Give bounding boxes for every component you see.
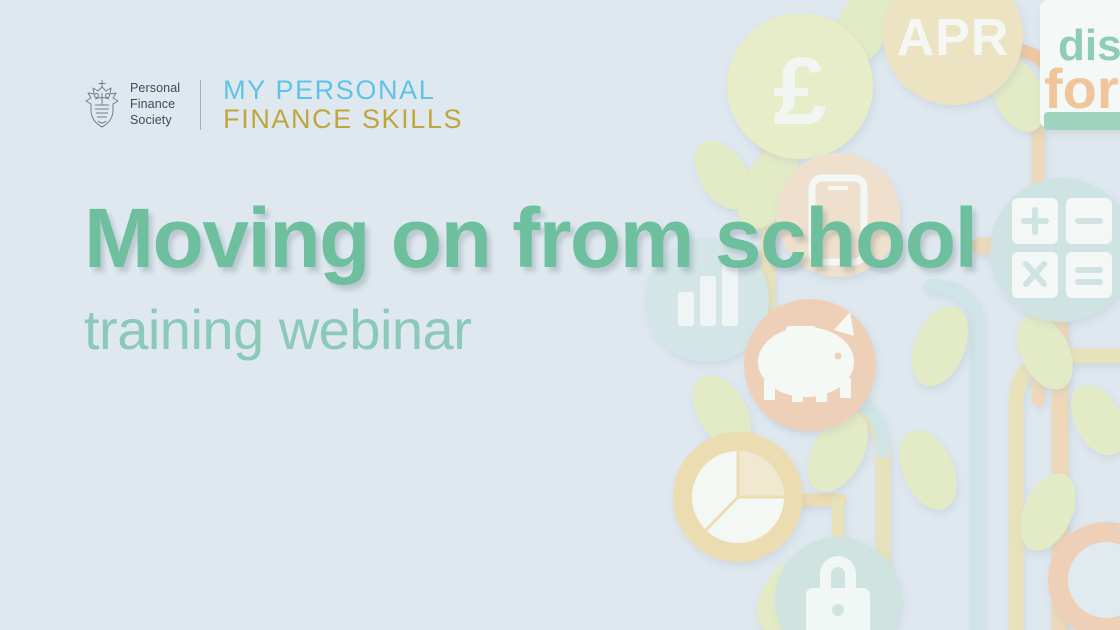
calculator-icon xyxy=(990,178,1120,322)
product-wordmark-line-1: MY PERSONAL xyxy=(223,76,463,105)
pound-coin-icon: £ xyxy=(727,13,873,159)
society-name-line-1: Personal xyxy=(130,81,180,97)
page-title: Moving on from school xyxy=(84,196,1004,280)
apr-badge-icon: APR xyxy=(883,0,1023,105)
pie-chart-icon xyxy=(673,432,803,562)
discount-sign-icon: dis for xyxy=(1040,0,1120,130)
society-name: Personal Finance Society xyxy=(130,81,180,128)
society-name-line-2: Finance xyxy=(130,97,180,113)
headline-block: Moving on from school training webinar xyxy=(84,196,1004,358)
svg-text:for: for xyxy=(1044,57,1119,120)
society-name-line-3: Society xyxy=(130,113,180,129)
lockup-divider xyxy=(200,80,201,130)
coin-node-icon xyxy=(1048,522,1120,630)
padlock-icon xyxy=(775,537,901,630)
webinar-title-slide: £ APR dis for xyxy=(0,0,1120,630)
brand-lockup: Personal Finance Society MY PERSONAL FIN… xyxy=(84,76,463,134)
svg-text:£: £ xyxy=(773,38,826,145)
product-wordmark-line-2: FINANCE SKILLS xyxy=(223,105,463,134)
page-subtitle: training webinar xyxy=(84,302,1004,358)
product-wordmark: MY PERSONAL FINANCE SKILLS xyxy=(223,76,463,133)
svg-text:APR: APR xyxy=(897,9,1010,67)
svg-text:dis: dis xyxy=(1058,21,1120,70)
heraldic-crest-icon xyxy=(84,79,120,131)
